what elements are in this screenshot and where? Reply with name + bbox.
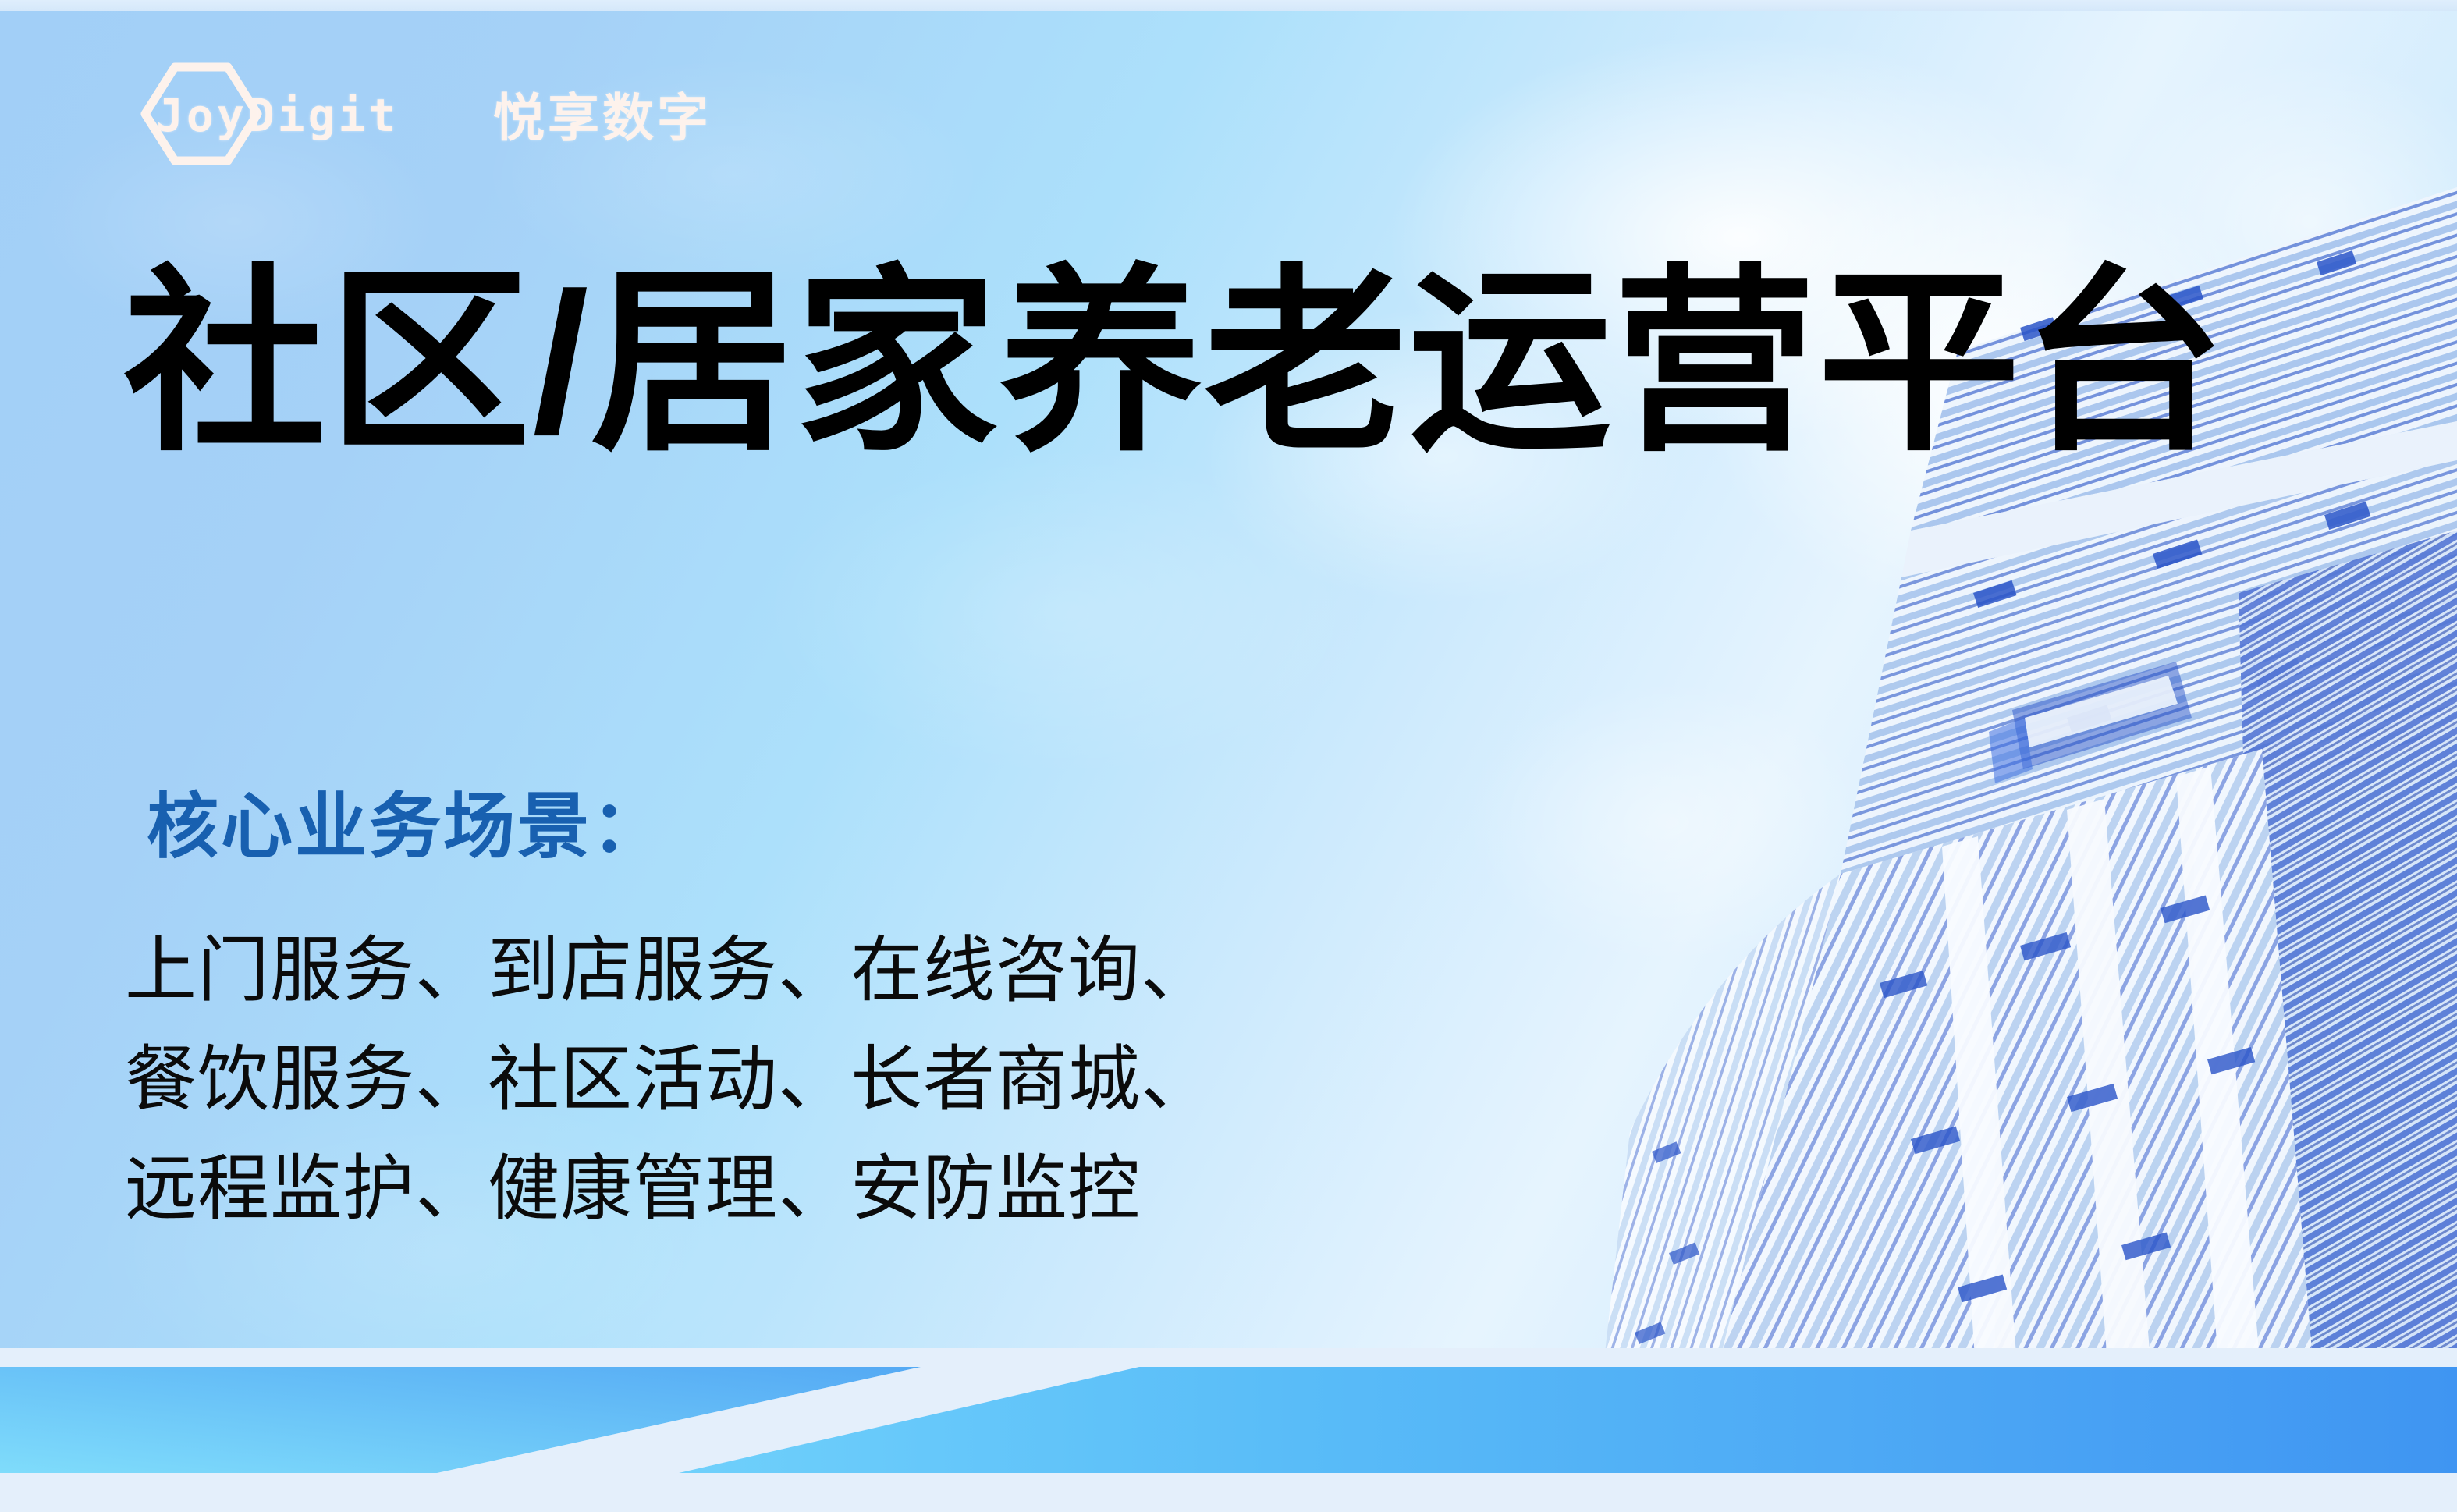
slide-root: JoyDigit 悦享数字 社区/居家养老运营平台 核心业务场景： 上门服务、到… — [0, 0, 2457, 1512]
logo-wordmark: JoyDigit — [156, 89, 399, 142]
top-edge-strip — [0, 0, 2457, 11]
scenario-list: 上门服务、到店服务、在线咨询、 餐饮服务、社区活动、长者商城、 远程监护、健康管… — [125, 917, 1213, 1244]
bottom-decorative-band — [0, 1348, 2457, 1512]
section-heading: 核心业务场景： — [147, 768, 666, 872]
cloud-shape — [765, 448, 1373, 776]
scenario-line-1: 上门服务、到店服务、在线咨询、 — [125, 917, 1213, 1026]
scenario-line-2: 餐饮服务、社区活动、长者商城、 — [125, 1026, 1213, 1135]
brand-logo: JoyDigit 悦享数字 — [140, 62, 712, 165]
logo-chinese-name: 悦享数字 — [493, 76, 712, 151]
page-title: 社区/居家养老运营平台 — [123, 264, 2227, 463]
scenario-line-3: 远程监护、健康管理、安防监控 — [125, 1135, 1213, 1244]
tower-main-body — [1708, 749, 2317, 1407]
